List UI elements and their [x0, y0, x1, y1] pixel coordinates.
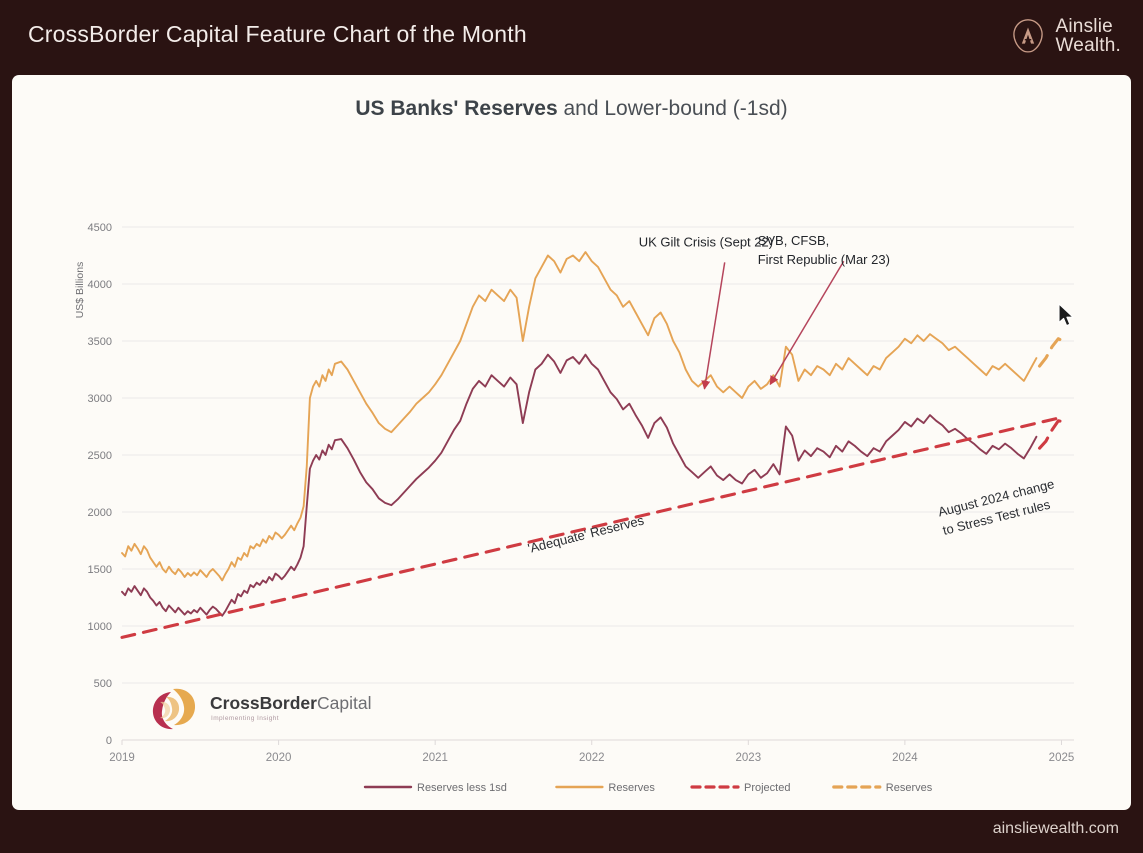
legend-label[interactable]: Projected: [744, 782, 790, 794]
x-tick-label: 2025: [1049, 752, 1075, 764]
ainslie-a-emblem-icon: [1009, 17, 1047, 55]
y-axis-tick-labels: 500100015002000250030003500400045000: [88, 222, 112, 747]
legend-label[interactable]: Reserves: [886, 782, 933, 794]
chart-svg[interactable]: 500100015002000250030003500400045000 US$…: [12, 75, 1131, 810]
y-tick-label: 0: [106, 735, 112, 747]
plot-area: 500100015002000250030003500400045000 US$…: [12, 75, 1131, 810]
crossborder-tagline: Implementing Insight: [211, 715, 279, 722]
y-axis-label: US$ Billions: [74, 262, 86, 319]
crossborder-swirl-icon: [153, 689, 195, 729]
data-series-group: [122, 252, 1065, 637]
annotation-svb-cfsb-first-republic: SVB, CFSB,First Republic (Mar 23): [758, 233, 890, 267]
x-tick-label: 2024: [892, 752, 918, 764]
x-tick-label: 2022: [579, 752, 605, 764]
y-tick-label: 1500: [88, 564, 112, 576]
page-title: CrossBorder Capital Feature Chart of the…: [28, 21, 527, 48]
y-tick-label: 4000: [88, 279, 112, 291]
brand-line-wealth: Wealth.: [1056, 36, 1121, 55]
series-line-projected-tail: [1040, 421, 1065, 448]
grid-lines: [122, 227, 1074, 683]
y-tick-label: 3000: [88, 393, 112, 405]
chart-legend[interactable]: Reserves less 1sdReservesProjectedReserv…: [365, 782, 933, 794]
footer-website-url[interactable]: ainsliewealth.com: [993, 820, 1119, 838]
y-tick-label: 1000: [88, 621, 112, 633]
y-tick-label: 2500: [88, 450, 112, 462]
annotation-august-2024-stress-test: August 2024 changeto Stress Test rules: [936, 476, 1060, 538]
x-tick-label: 2021: [422, 752, 448, 764]
series-line-reserves-projected-dashed: [1040, 339, 1065, 366]
brand-wordmark: Ainslie Wealth.: [1056, 17, 1121, 55]
crossborder-capital-logo: CrossBorderCapital Implementing Insight: [153, 689, 372, 729]
x-tick-label: 2023: [736, 752, 762, 764]
annotation-arrow-svb-cfsb-first-republic: [770, 261, 843, 384]
chart-card: US Banks' Reserves and Lower-bound (-1sd…: [12, 75, 1131, 810]
y-tick-label: 2000: [88, 507, 112, 519]
page-footer: ainsliewealth.com: [0, 810, 1143, 853]
y-tick-label: 4500: [88, 222, 112, 234]
app-root: CrossBorder Capital Feature Chart of the…: [0, 0, 1143, 853]
x-tick-label: 2020: [266, 752, 292, 764]
ainslie-wealth-brand[interactable]: Ainslie Wealth.: [1009, 10, 1121, 62]
page-header: CrossBorder Capital Feature Chart of the…: [0, 0, 1143, 72]
brand-line-ainslie: Ainslie: [1056, 17, 1121, 36]
crossborder-wordmark: CrossBorderCapital: [210, 693, 371, 713]
annotation-text-line: UK Gilt Crisis (Sept 22): [639, 234, 773, 249]
legend-label[interactable]: Reserves: [608, 782, 655, 794]
series-line-reserves-less-1sd: [122, 355, 1036, 616]
legend-label[interactable]: Reserves less 1sd: [417, 782, 507, 794]
y-tick-label: 3500: [88, 336, 112, 348]
x-tick-label: 2019: [109, 752, 135, 764]
annotation-uk-gilt-crisis: UK Gilt Crisis (Sept 22): [639, 234, 773, 249]
annotation-text-line: First Republic (Mar 23): [758, 252, 890, 267]
annotation-adequate-reserves: 'Adequate' Reserves: [526, 512, 646, 555]
annotation-text-line: 'Adequate' Reserves: [526, 512, 646, 555]
y-tick-label: 500: [94, 678, 112, 690]
annotation-arrow-uk-gilt-crisis: [704, 262, 724, 389]
annotation-text-line: SVB, CFSB,: [758, 233, 830, 248]
x-axis-tick-labels: 2019202020212022202320242025: [109, 740, 1074, 764]
